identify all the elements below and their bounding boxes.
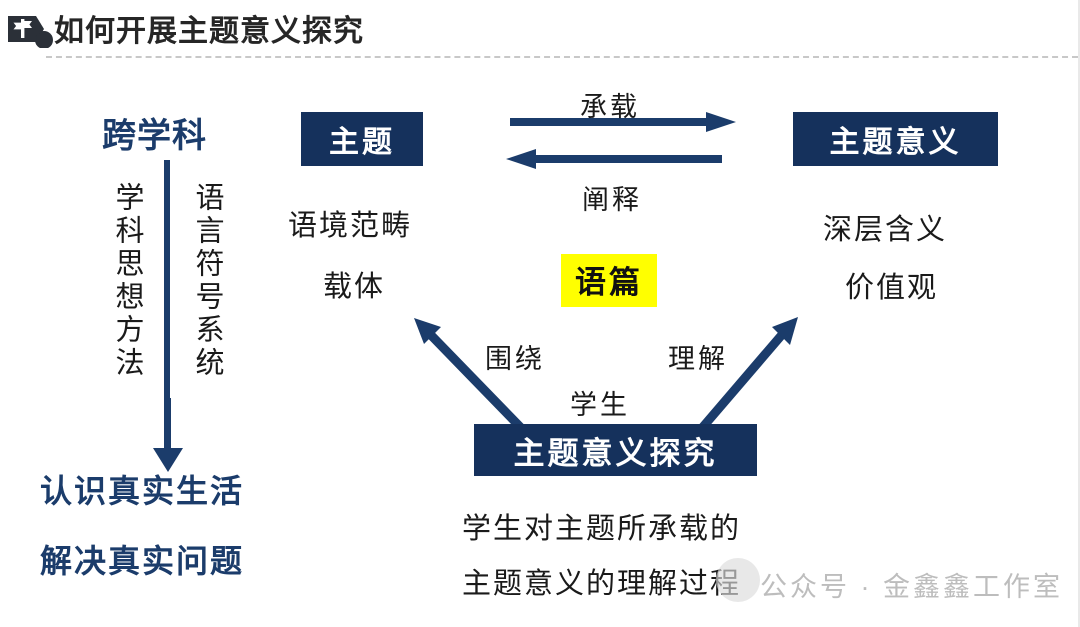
text-values: 价值观 <box>845 264 938 306</box>
text-context-category: 语境范畴 <box>288 202 412 244</box>
left-arrow-icon <box>506 149 722 169</box>
diagonal-up-left-arrow-icon <box>414 318 527 434</box>
watermark-logo <box>716 558 760 602</box>
label-student: 学生 <box>570 383 630 422</box>
highlight-discourse: 语篇 <box>561 254 657 307</box>
slide-canvas: 如何开展主题意义探究 跨学科 学科思想方法 语言符号系统 认识真实生活 解决真实… <box>0 0 1080 627</box>
watermark-text: 公众号 · 金鑫鑫工作室 <box>760 565 1063 604</box>
text-carrier: 载体 <box>323 263 385 305</box>
label-around: 围绕 <box>485 337 545 376</box>
description-line-2: 主题意义的理解过程 <box>462 560 741 602</box>
box-topic[interactable]: 主题 <box>301 112 423 166</box>
label-explain: 阐释 <box>582 178 642 217</box>
box-topic-meaning[interactable]: 主题意义 <box>793 112 998 166</box>
label-understand: 理解 <box>668 337 728 376</box>
box-topic-meaning-inquiry[interactable]: 主题意义探究 <box>474 424 757 476</box>
text-deep-meaning: 深层含义 <box>823 206 947 248</box>
label-carry: 承载 <box>580 85 640 124</box>
description-line-1: 学生对主题所承载的 <box>462 505 741 547</box>
